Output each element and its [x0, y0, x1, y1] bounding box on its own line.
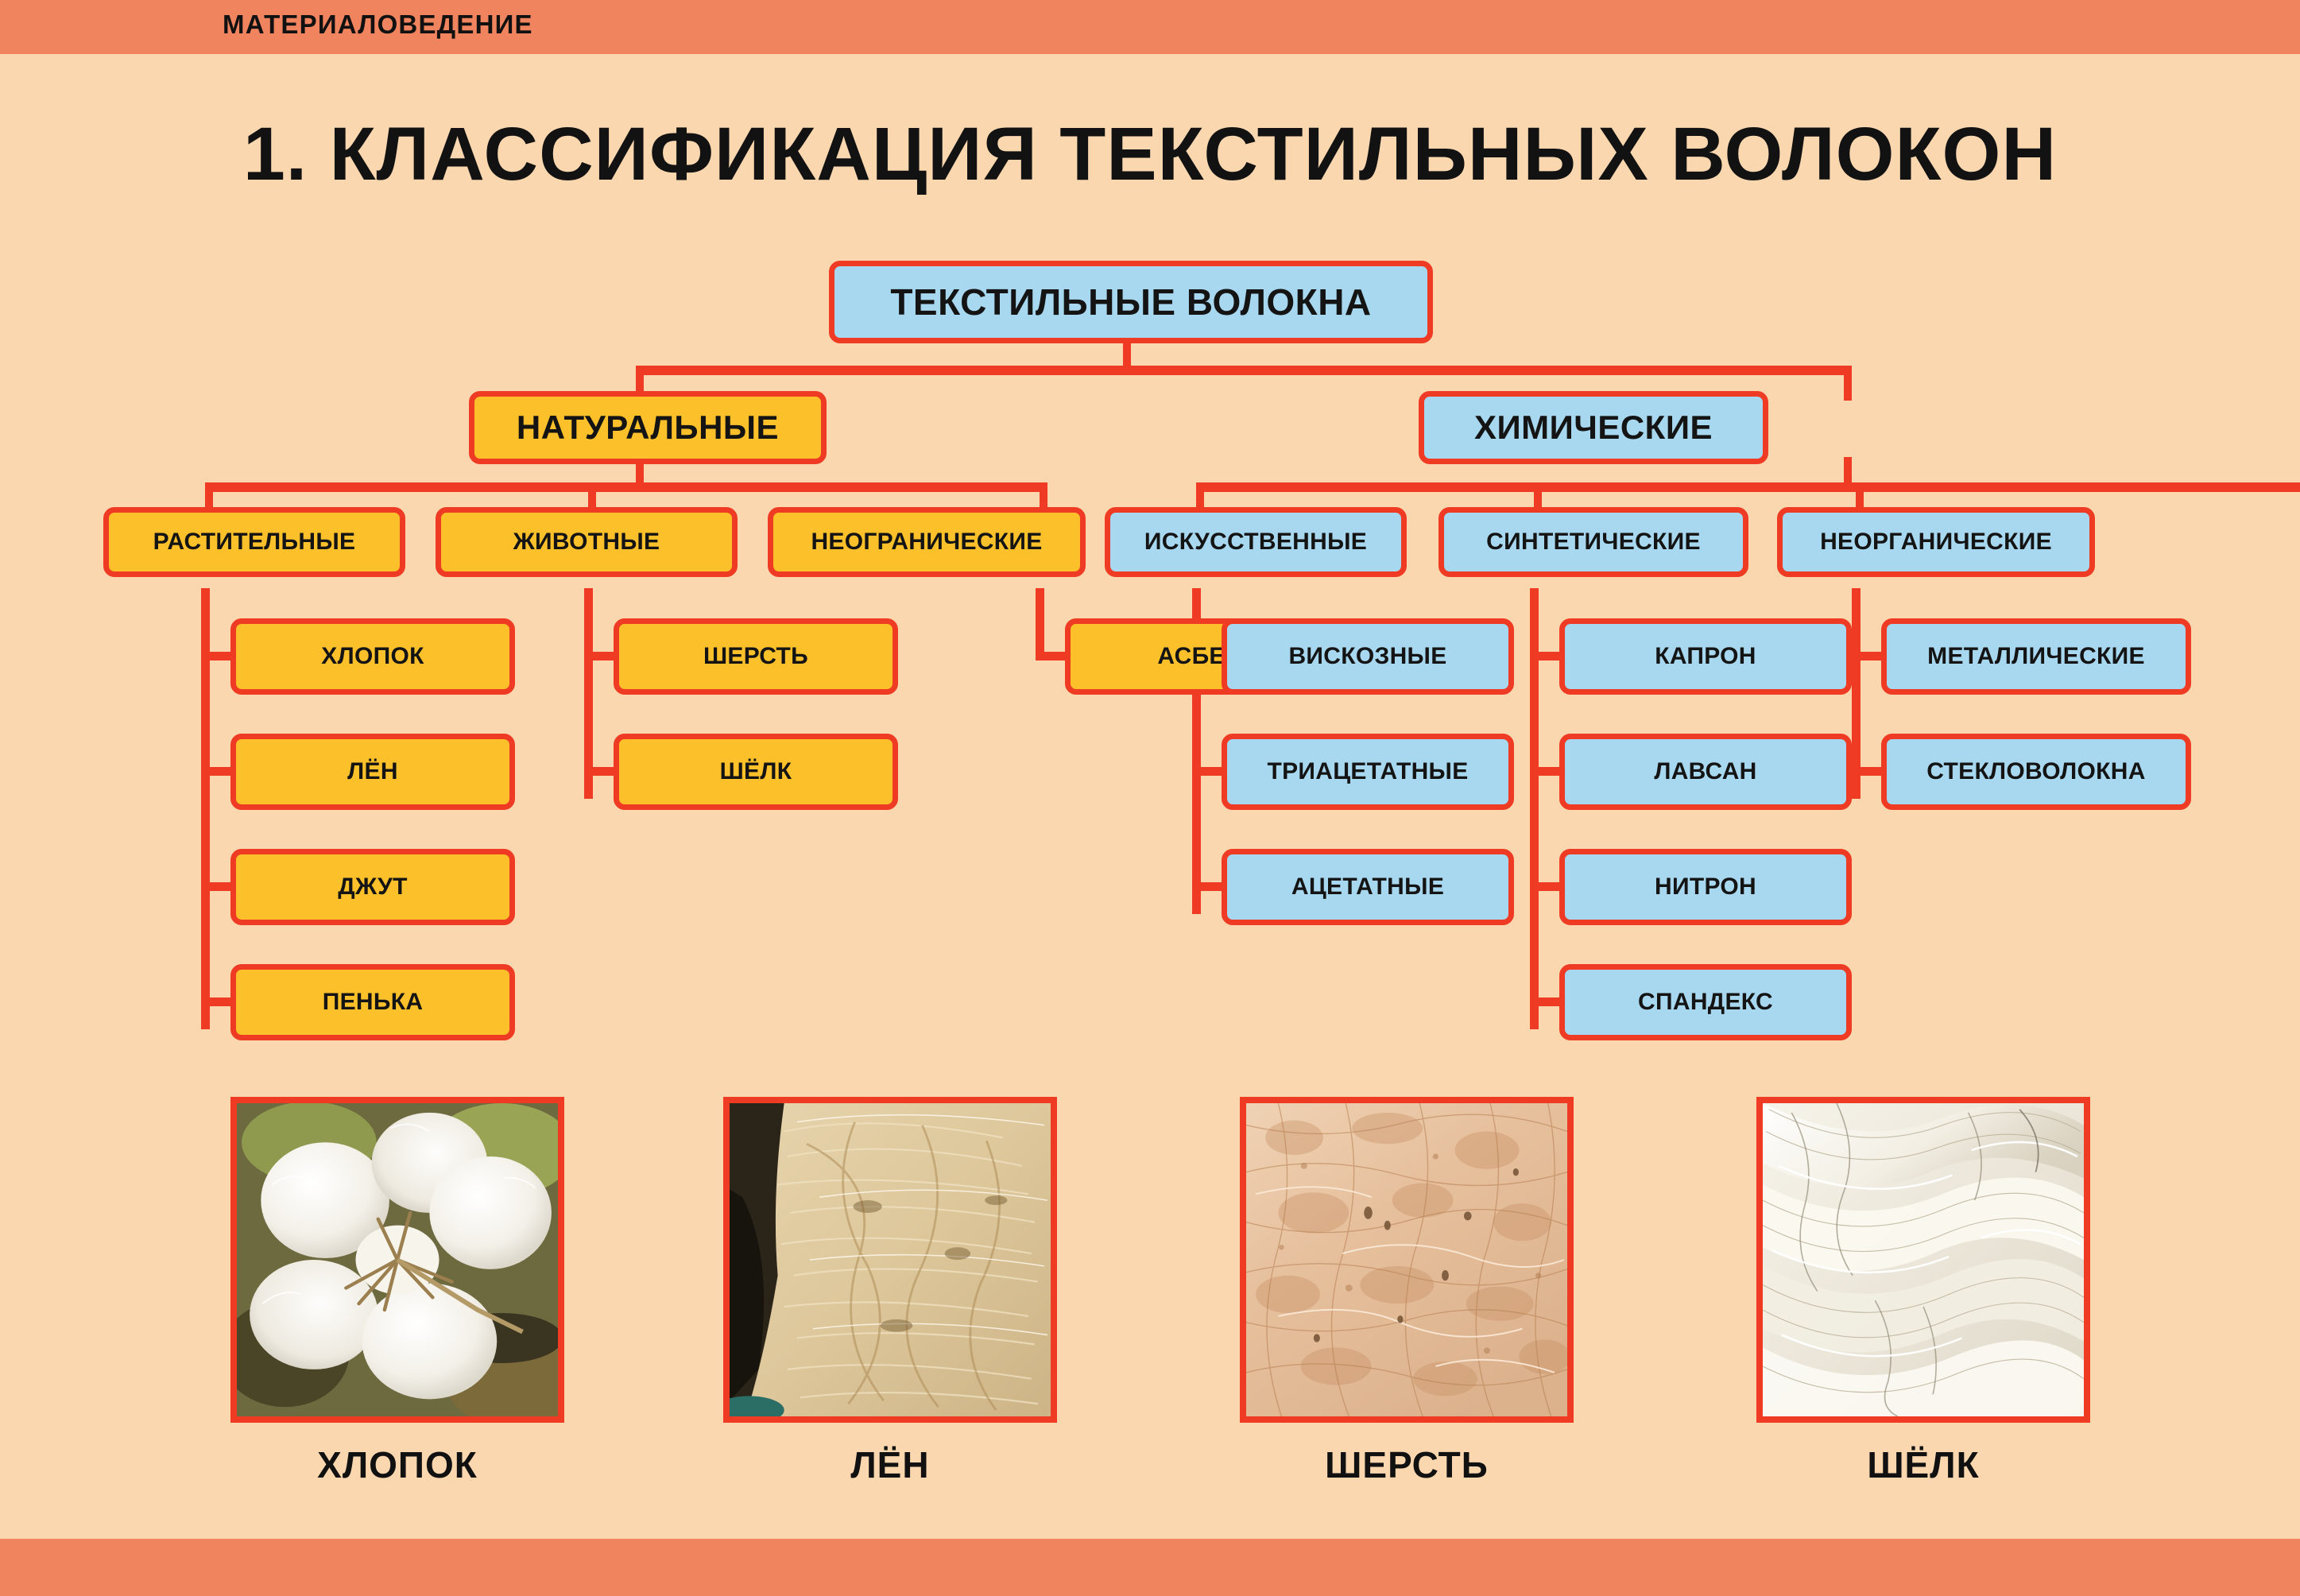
node-mineral-natural[interactable]: НЕОГРАНИЧЕСКИЕ	[768, 507, 1086, 577]
node-label: КАПРОН	[1655, 644, 1756, 669]
cotton-bolls-photo	[230, 1097, 564, 1423]
node-label: СИНТЕТИЧЕСКИЕ	[1486, 529, 1701, 555]
node-triacetate[interactable]: ТРИАЦЕТАТНЫЕ	[1222, 734, 1514, 810]
node-label: НЕОРГАНИЧЕСКИЕ	[1820, 529, 2052, 555]
node-label: ВИСКОЗНЫЕ	[1288, 644, 1446, 669]
node-label: ЖИВОТНЫЕ	[513, 529, 660, 555]
node-textile-fibers[interactable]: ТЕКСТИЛЬНЫЕ ВОЛОКНА	[829, 261, 1433, 343]
node-label: ДЖУТ	[338, 874, 407, 900]
node-label: СПАНДЕКС	[1638, 990, 1773, 1015]
node-inorganic[interactable]: НЕОРГАНИЧЕСКИЕ	[1777, 507, 2095, 577]
node-label: ШЁЛК	[720, 759, 792, 784]
node-flax[interactable]: ЛЁН	[230, 734, 515, 810]
silk-fiber-photo	[1756, 1097, 2090, 1423]
fiber-sample-photos: ХЛОПОК	[0, 1097, 2300, 1574]
node-fiberglass[interactable]: СТЕКЛОВОЛОКНА	[1881, 734, 2191, 810]
node-kapron[interactable]: КАПРОН	[1559, 618, 1852, 695]
photo-cell-cotton: ХЛОПОК	[230, 1097, 564, 1486]
node-label: ХЛОПОК	[321, 644, 424, 669]
node-cotton[interactable]: ХЛОПОК	[230, 618, 515, 695]
connector-level1-bus	[636, 366, 1852, 375]
connector-chemical-drop	[1844, 366, 1852, 401]
node-silk[interactable]: ШЁЛК	[614, 734, 898, 810]
node-acetate[interactable]: АЦЕТАТНЫЕ	[1222, 849, 1514, 925]
node-label: НАТУРАЛЬНЫЕ	[517, 410, 779, 445]
photo-cell-flax: ЛЁН	[723, 1097, 1057, 1486]
flax-fiber-photo	[723, 1097, 1057, 1423]
node-label: МЕТАЛЛИЧЕСКИЕ	[1927, 644, 2145, 669]
node-label: НИТРОН	[1655, 874, 1756, 900]
node-natural[interactable]: НАТУРАЛЬНЫЕ	[469, 391, 827, 464]
connector-chemical-bus	[1196, 482, 2300, 492]
bottom-color-band	[0, 1539, 2300, 1596]
node-label: ШЕРСТЬ	[703, 644, 808, 669]
photo-caption: ХЛОПОК	[230, 1443, 564, 1486]
connector-natural-bus	[205, 482, 1047, 492]
photo-caption: ШЁЛК	[1756, 1443, 2090, 1486]
node-label: ТЕКСТИЛЬНЫЕ ВОЛОКНА	[890, 283, 1371, 321]
node-jute[interactable]: ДЖУТ	[230, 849, 515, 925]
photo-cell-silk: ШЁЛК	[1756, 1097, 2090, 1486]
node-artificial[interactable]: ИСКУССТВЕННЫЕ	[1105, 507, 1407, 577]
node-spandex[interactable]: СПАНДЕКС	[1559, 964, 1852, 1040]
spine-neogranicheskie	[1036, 588, 1044, 660]
node-label: ХИМИЧЕСКИЕ	[1474, 410, 1713, 445]
node-label: НЕОГРАНИЧЕСКИЕ	[811, 529, 1042, 555]
node-label: СТЕКЛОВОЛОКНА	[1926, 759, 2145, 784]
node-lavsan[interactable]: ЛАВСАН	[1559, 734, 1852, 810]
node-wool[interactable]: ШЕРСТЬ	[614, 618, 898, 695]
photo-cell-wool: ШЕРСТЬ	[1240, 1097, 1574, 1486]
node-plant[interactable]: РАСТИТЕЛЬНЫЕ	[103, 507, 405, 577]
node-synthetic[interactable]: СИНТЕТИЧЕСКИЕ	[1438, 507, 1748, 577]
node-hemp[interactable]: ПЕНЬКА	[230, 964, 515, 1040]
node-label: ЛАВСАН	[1654, 759, 1756, 784]
node-animal[interactable]: ЖИВОТНЫЕ	[436, 507, 738, 577]
fiber-classification-tree: ТЕКСТИЛЬНЫЕ ВОЛОКНА НАТУРАЛЬНЫЕ ХИМИЧЕСК…	[0, 0, 2300, 1065]
photo-caption: ШЕРСТЬ	[1240, 1443, 1574, 1486]
node-label: ИСКУССТВЕННЫЕ	[1144, 529, 1367, 555]
node-label: ПЕНЬКА	[323, 990, 424, 1015]
wool-felt-photo	[1240, 1097, 1574, 1423]
node-label: АЦЕТАТНЫЕ	[1291, 874, 1444, 900]
node-chemical[interactable]: ХИМИЧЕСКИЕ	[1419, 391, 1768, 464]
node-label: ЛЁН	[347, 759, 398, 784]
node-label: РАСТИТЕЛЬНЫЕ	[153, 529, 356, 555]
node-label: ТРИАЦЕТАТНЫЕ	[1267, 759, 1468, 784]
node-nitron[interactable]: НИТРОН	[1559, 849, 1852, 925]
photo-caption: ЛЁН	[723, 1443, 1057, 1486]
node-viscose[interactable]: ВИСКОЗНЫЕ	[1222, 618, 1514, 695]
node-metallic[interactable]: МЕТАЛЛИЧЕСКИЕ	[1881, 618, 2191, 695]
